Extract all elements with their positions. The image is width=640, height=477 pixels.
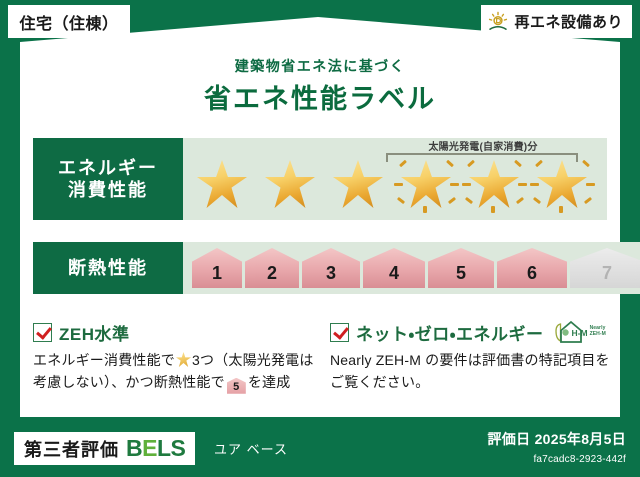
grade-badge-3: 3 xyxy=(302,248,360,288)
star-icon xyxy=(326,152,391,214)
svg-text:H-M: H-M xyxy=(571,328,587,338)
star-icon xyxy=(176,352,191,367)
renewable-energy-tag-label: 再エネ設備あり xyxy=(514,11,623,32)
energy-performance-label-line1: エネルギー xyxy=(58,157,158,180)
checkbox-checked-icon[interactable] xyxy=(33,323,52,342)
bels-logo-b: B xyxy=(126,435,142,461)
criteria-zeh-standard: ZEH水準 エネルギー消費性能で3つ（太陽光発電は考慮しない）、かつ断熱性能で5… xyxy=(33,320,323,394)
insulation-performance-label-text: 断熱性能 xyxy=(68,257,148,280)
insulation-grade-strip: 1 2 3 4 5 6 7 xyxy=(183,248,640,288)
bels-logo: BELS xyxy=(126,435,185,462)
zeh-m-logo-caption: Nearly ZEH-M xyxy=(590,326,606,338)
criteria-zeh-body-part1: エネルギー消費性能で xyxy=(33,352,175,368)
evaluation-id: fa7cadc8-2923-442f xyxy=(533,454,626,465)
grade-badge-1: 1 xyxy=(192,248,242,288)
grade-badge-2: 2 xyxy=(245,248,299,288)
grade-badge-5: 5 xyxy=(428,248,494,288)
solar-generation-note: 太陽光発電(自家消費)分 xyxy=(386,138,580,153)
bels-certification-box: 第三者評価 BELS xyxy=(14,432,195,465)
criteria-zeh-body-part3: を達成 xyxy=(248,374,291,390)
sun-icon xyxy=(487,11,509,33)
criteria-nze-body: Nearly ZEH-M の要件は評価書の特記項目をご覧ください。 xyxy=(330,350,614,393)
builder-name: ユア ベース xyxy=(214,439,288,458)
star-icon xyxy=(258,152,323,214)
grade-badge-4: 4 xyxy=(363,248,425,288)
energy-performance-label-line2: 消費性能 xyxy=(68,179,148,202)
solar-range-bracket xyxy=(386,153,578,162)
criteria-net-zero-energy: ネット・ゼロ・エネルギー H-M Nearly ZEH-M Nearly ZEH… xyxy=(330,320,614,393)
grade-badge-6: 6 xyxy=(497,248,567,288)
insulation-performance-row: 断熱性能 1 2 3 4 5 6 7 xyxy=(33,242,607,294)
label-subtitle: 建築物省エネ法に基づく xyxy=(0,56,640,76)
criteria-zeh-body: エネルギー消費性能で3つ（太陽光発電は考慮しない）、かつ断熱性能で5を達成 xyxy=(33,350,323,394)
bels-logo-ls: LS xyxy=(157,435,185,461)
criteria-nze-title: ネット・ゼロ・エネルギー xyxy=(356,320,544,345)
zeh-m-house-icon: H-M xyxy=(554,319,588,345)
third-party-label: 第三者評価 xyxy=(24,436,119,462)
energy-performance-label: エネルギー 消費性能 xyxy=(33,138,183,220)
zeh-m-logo-line2: ZEH-M xyxy=(590,331,606,337)
bels-logo-e: E xyxy=(142,435,157,461)
grade-badge-inline: 5 xyxy=(227,378,246,394)
evaluation-date: 評価日 2025年8月5日 xyxy=(487,429,626,449)
criteria-zeh-header: ZEH水準 xyxy=(33,320,323,344)
label-title: 省エネ性能ラベル xyxy=(0,77,640,116)
grade-badge-7: 7 xyxy=(570,248,640,288)
house-type-tag-label: 住宅（住棟） xyxy=(19,10,118,34)
star-icon xyxy=(190,152,255,214)
zeh-m-logo: H-M Nearly ZEH-M xyxy=(554,319,606,345)
insulation-performance-label: 断熱性能 xyxy=(33,242,183,294)
house-type-tag: 住宅（住棟） xyxy=(8,5,130,38)
insulation-grade-panel: 1 2 3 4 5 6 7 xyxy=(183,242,640,294)
energy-label-root: 住宅（住棟） 再エネ設備あり 建築物省エネ法に基づく 省エネ性能ラベル エネルギ… xyxy=(0,0,640,477)
criteria-nze-header: ネット・ゼロ・エネルギー H-M Nearly ZEH-M xyxy=(330,320,614,344)
checkbox-checked-icon[interactable] xyxy=(330,323,349,342)
criteria-zeh-title: ZEH水準 xyxy=(59,320,130,345)
